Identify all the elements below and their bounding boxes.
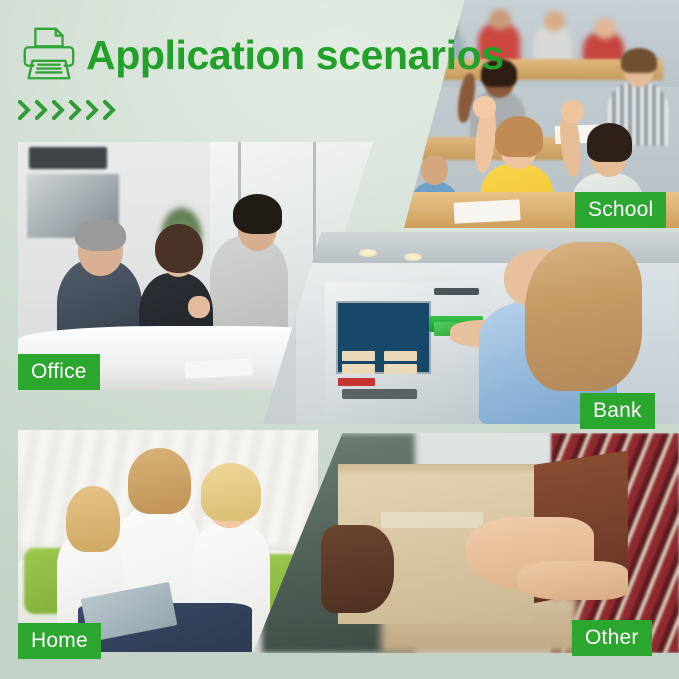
printer-icon [17,24,79,86]
application-scenarios-poster: Application scenarios [0,0,679,679]
panel-label-office: Office [18,354,100,390]
chevron-right-icon [103,100,116,120]
poster-header: Application scenarios [0,0,679,135]
panel-label-school: School [575,192,666,228]
chevron-right-icon [18,100,31,120]
panel-label-home: Home [18,623,101,659]
chevron-right-icon [35,100,48,120]
chevron-right-icon [52,100,65,120]
page-title: Application scenarios [86,27,504,83]
panel-label-other: Other [572,620,652,656]
chevron-arrow-row [18,100,116,120]
chevron-right-icon [86,100,99,120]
chevron-right-icon [69,100,82,120]
panel-label-bank: Bank [580,393,655,429]
